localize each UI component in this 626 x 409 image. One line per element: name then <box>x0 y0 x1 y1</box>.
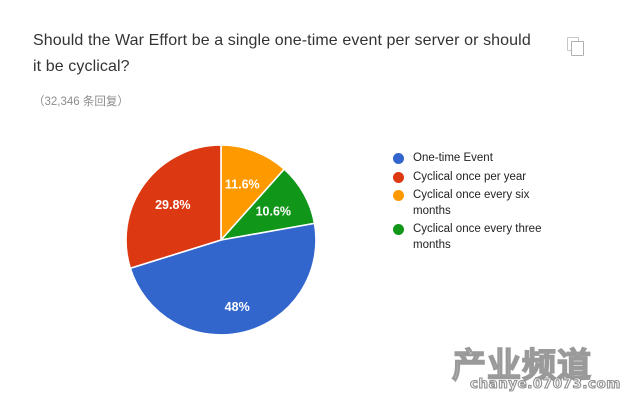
watermark-latin-text: chanye.07073.com <box>470 376 621 392</box>
chart-legend: One-time Event Cyclical once per year Cy… <box>393 151 583 256</box>
chart-area: 11.6%10.6%48%29.8% One-time Event Cyclic… <box>0 130 626 345</box>
legend-item-label: Cyclical once every three months <box>413 222 563 253</box>
legend-item-label: One-time Event <box>413 151 493 167</box>
watermark: 产业频道 chanye.07073.com <box>452 348 618 402</box>
page-title: Should the War Effort be a single one-ti… <box>33 28 533 80</box>
pie-slice-label: 48% <box>225 300 250 314</box>
legend-item-label: Cyclical once every six months <box>413 188 563 219</box>
poll-header: Should the War Effort be a single one-ti… <box>33 28 533 110</box>
pie-slice-label: 10.6% <box>256 204 291 218</box>
legend-swatch-icon <box>393 224 404 235</box>
pie-chart[interactable]: 11.6%10.6%48%29.8% <box>125 144 317 336</box>
legend-swatch-icon <box>393 172 404 183</box>
legend-item-label: Cyclical once per year <box>413 170 526 186</box>
copy-icon-front-sheet <box>571 41 584 56</box>
pie-slice-label: 11.6% <box>225 178 260 192</box>
legend-swatch-icon <box>393 153 404 164</box>
copy-icon[interactable] <box>566 36 590 60</box>
response-count: （32,346 条回复） <box>33 94 533 110</box>
legend-item[interactable]: One-time Event <box>393 151 583 167</box>
legend-item[interactable]: Cyclical once every three months <box>393 222 583 253</box>
legend-item[interactable]: Cyclical once per year <box>393 170 583 186</box>
legend-item[interactable]: Cyclical once every six months <box>393 188 583 219</box>
legend-swatch-icon <box>393 190 404 201</box>
pie-slice-group <box>126 145 316 335</box>
pie-slice-label: 29.8% <box>155 198 190 212</box>
